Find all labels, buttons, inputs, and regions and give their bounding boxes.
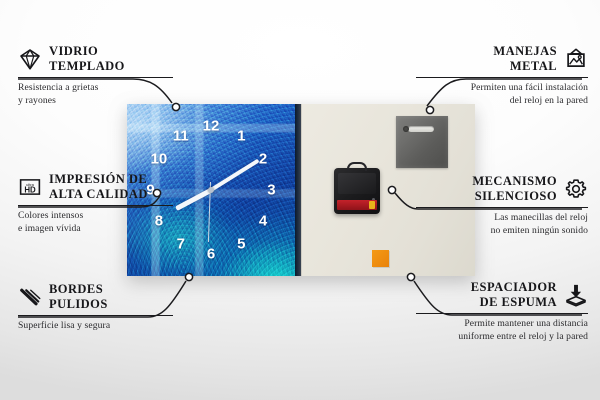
callout-header: MANEJAS METAL xyxy=(416,44,588,74)
battery-terminal xyxy=(369,201,375,209)
callout-subtitle-line2: del reloj en la pared xyxy=(416,95,588,108)
clock-numeral: 5 xyxy=(237,237,245,252)
foam-spacer xyxy=(372,250,389,267)
callout-subtitle-line1: Permite mantener una distancia xyxy=(416,318,588,331)
clock-numeral: 2 xyxy=(259,152,267,167)
callout-title: ESPACIADOR DE ESPUMA xyxy=(416,280,557,310)
callout-subtitle-line2: e imagen vívida xyxy=(18,223,173,236)
callout-subtitle-line1: Las manecillas del reloj xyxy=(416,212,588,225)
callout-title: MANEJAS METAL xyxy=(416,44,557,74)
clock-numeral: 7 xyxy=(177,237,185,252)
callout-title-line1: MANEJAS xyxy=(416,44,557,59)
callout-title-line1: IMPRESIÓN DE xyxy=(49,172,148,187)
mechanism-body xyxy=(338,173,376,194)
callout-bordes-pulidos: BORDES PULIDOS Superficie lisa y segura xyxy=(18,282,173,333)
callout-impresion-alta-calidad: ultra HD IMPRESIÓN DE ALTA CALIDAD Color… xyxy=(18,172,173,235)
clock-numeral: 3 xyxy=(267,183,275,198)
clock-hour-hand xyxy=(175,188,213,211)
callout-mecanismo-silencioso: MECANISMO SILENCIOSO Las manecillas del … xyxy=(416,174,588,237)
callout-subtitle: Superficie lisa y segura xyxy=(18,320,173,333)
hanger-keyhole-round xyxy=(403,126,409,132)
ultra-hd-large-text: HD xyxy=(24,185,36,194)
callout-vidrio-templado: VIDRIO TEMPLADO Resistencia a grietas y … xyxy=(18,44,173,107)
callout-header: ESPACIADOR DE ESPUMA xyxy=(416,280,588,310)
callout-title-line2: PULIDOS xyxy=(49,297,108,312)
callout-subtitle: Resistencia a grietas y rayones xyxy=(18,82,173,107)
callout-title-line2: ALTA CALIDAD xyxy=(49,187,148,202)
callout-rule xyxy=(416,313,588,314)
hanging-frame-icon xyxy=(564,47,588,71)
callout-subtitle-line2: no emiten ningún sonido xyxy=(416,225,588,238)
callout-subtitle-line2: uniforme entre el reloj y la pared xyxy=(416,331,588,344)
callout-rule xyxy=(18,205,173,206)
hanger-keyhole-slot xyxy=(408,126,434,132)
callout-title-line1: BORDES xyxy=(49,282,108,297)
clock-numeral: 1 xyxy=(237,128,245,143)
callout-rule xyxy=(416,207,588,208)
callout-subtitle: Colores intensos e imagen vívida xyxy=(18,210,173,235)
callout-rule xyxy=(416,77,588,78)
callout-title-line2: TEMPLADO xyxy=(49,59,125,74)
bevel-edge-icon xyxy=(18,285,42,309)
callout-title: IMPRESIÓN DE ALTA CALIDAD xyxy=(49,172,148,202)
callout-title: MECANISMO SILENCIOSO xyxy=(416,174,557,204)
ultra-hd-icon: ultra HD xyxy=(18,175,42,199)
callout-title: BORDES PULIDOS xyxy=(49,282,108,312)
clock-numeral: 4 xyxy=(259,213,267,228)
callout-header: MECANISMO SILENCIOSO xyxy=(416,174,588,204)
clock-center-cap xyxy=(208,187,214,193)
callout-title-line1: VIDRIO xyxy=(49,44,125,59)
callout-manejas-metal: MANEJAS METAL Permiten una fácil instala… xyxy=(416,44,588,107)
callout-rule xyxy=(18,77,173,78)
callout-header: ultra HD IMPRESIÓN DE ALTA CALIDAD xyxy=(18,172,173,202)
callout-subtitle-line1: Resistencia a grietas xyxy=(18,82,173,95)
callout-title-line1: ESPACIADOR xyxy=(416,280,557,295)
callout-subtitle: Permiten una fácil instalación del reloj… xyxy=(416,82,588,107)
gear-icon xyxy=(564,177,588,201)
callout-title-line2: DE ESPUMA xyxy=(416,295,557,310)
arrow-onto-layers-icon xyxy=(564,283,588,307)
battery xyxy=(337,200,377,210)
callout-header: VIDRIO TEMPLADO xyxy=(18,44,173,74)
callout-rule xyxy=(18,315,173,316)
clock-mechanism-box xyxy=(334,168,380,214)
callout-subtitle-line2: y rayones xyxy=(18,95,173,108)
callout-subtitle: Las manecillas del reloj no emiten ningú… xyxy=(416,212,588,237)
callout-title-line1: MECANISMO xyxy=(416,174,557,189)
callout-header: BORDES PULIDOS xyxy=(18,282,173,312)
callout-title: VIDRIO TEMPLADO xyxy=(49,44,125,74)
callout-subtitle-line1: Superficie lisa y segura xyxy=(18,320,173,333)
metal-hanger-bracket xyxy=(396,116,448,168)
callout-subtitle-line1: Colores intensos xyxy=(18,210,173,223)
callout-subtitle: Permite mantener una distancia uniforme … xyxy=(416,318,588,343)
clock-numeral: 11 xyxy=(173,128,189,143)
mechanism-hanging-loop xyxy=(347,162,367,171)
clock-numeral: 10 xyxy=(151,152,168,167)
clock-minute-hand xyxy=(210,159,260,192)
clock-numeral: 12 xyxy=(203,119,220,134)
callout-espaciador-espuma: ESPACIADOR DE ESPUMA Permite mantener un… xyxy=(416,280,588,343)
diamond-icon xyxy=(18,47,42,71)
infographic-canvas: 12 1 2 3 4 5 6 7 8 9 10 11 xyxy=(0,0,600,400)
clock-numeral: 6 xyxy=(207,246,215,261)
callout-title-line2: SILENCIOSO xyxy=(416,189,557,204)
callout-title-line2: METAL xyxy=(416,59,557,74)
callout-subtitle-line1: Permiten una fácil instalación xyxy=(416,82,588,95)
